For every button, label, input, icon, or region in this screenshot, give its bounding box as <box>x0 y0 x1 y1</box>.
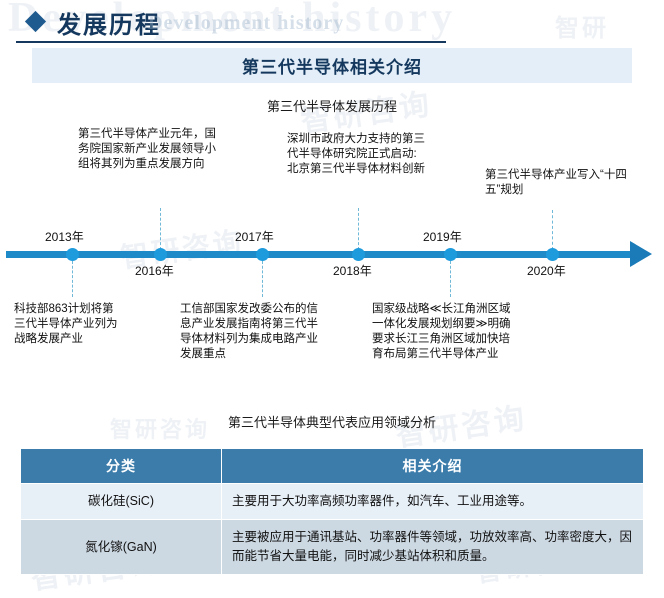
timeline-node[interactable] <box>66 248 79 261</box>
cell-description: 主要用于大功率高频功率器件，如汽车、工业用途等。 <box>222 484 644 520</box>
arrow-right-icon <box>630 241 652 267</box>
timeline-title: 第三代半导体发展历程 <box>0 96 664 115</box>
timeline-connector <box>160 208 161 250</box>
page-title: 发展历程 <box>57 5 161 40</box>
timeline-connector <box>450 261 451 297</box>
section-banner-label: 第三代半导体相关介绍 <box>32 53 632 78</box>
timeline-year-label: 2019年 <box>423 228 462 245</box>
timeline-note: 国家级战略≪长江角洲区域一体化发展规划纲要≫明确要求长江三角洲区域加快培育布局第… <box>372 302 512 362</box>
timeline-node[interactable] <box>546 248 559 261</box>
timeline-connector <box>262 261 263 297</box>
timeline-year-label: 2013年 <box>45 228 84 245</box>
timeline-year-label: 2018年 <box>333 262 372 279</box>
timeline-chart: 2013年 科技部863计划将第三代半导体产业列为战略发展产业 2016年 第三… <box>0 110 664 410</box>
cell-category: 氮化镓(GaN) <box>21 520 222 575</box>
table-header-row: 分类 相关介绍 <box>21 449 644 484</box>
timeline-note: 第三代半导体产业写入“十四五”规划 <box>485 168 627 198</box>
timeline-node[interactable] <box>352 248 365 261</box>
header-divider <box>16 41 446 43</box>
header-subtitle: Development history <box>148 12 344 35</box>
timeline-note: 工信部国家发改委公布的信息产业发展指南将第三代半导体材料列为集成电路产业发展重点 <box>180 302 328 362</box>
timeline-year-label: 2017年 <box>235 228 274 245</box>
timeline-axis <box>6 251 636 258</box>
column-header-category: 分类 <box>21 449 222 484</box>
column-header-description: 相关介绍 <box>222 449 644 484</box>
table-title: 第三代半导体典型代表应用领域分析 <box>0 412 664 431</box>
table-row: 氮化镓(GaN) 主要被应用于通讯基站、功率器件等领域，功放效率高、功率密度大，… <box>21 520 644 575</box>
timeline-connector <box>72 261 73 297</box>
timeline-connector <box>552 210 553 250</box>
table-row: 碳化硅(SiC) 主要用于大功率高频功率器件，如汽车、工业用途等。 <box>21 484 644 520</box>
timeline-note: 第三代半导体产业元年，国务院国家新产业发展领导小组将其列为重点发展方向 <box>78 127 216 172</box>
page-header: Development history 发展历程 <box>0 0 664 46</box>
timeline-node[interactable] <box>444 248 457 261</box>
timeline-note: 科技部863计划将第三代半导体产业列为战略发展产业 <box>14 302 124 347</box>
application-table: 分类 相关介绍 碳化硅(SiC) 主要用于大功率高频功率器件，如汽车、工业用途等… <box>20 448 644 575</box>
timeline-connector <box>358 208 359 250</box>
timeline-year-label: 2016年 <box>135 262 174 279</box>
timeline-year-label: 2020年 <box>527 262 566 279</box>
timeline-node[interactable] <box>154 248 167 261</box>
diamond-icon <box>25 11 46 32</box>
section-banner: 第三代半导体相关介绍 <box>32 48 632 83</box>
timeline-node[interactable] <box>256 248 269 261</box>
cell-description: 主要被应用于通讯基站、功率器件等领域，功放效率高、功率密度大，因而能节省大量电能… <box>222 520 644 575</box>
timeline-note: 深圳市政府大力支持的第三代半导体研究院正式启动:北京第三代半导体材料创新 <box>287 132 427 177</box>
cell-category: 碳化硅(SiC) <box>21 484 222 520</box>
